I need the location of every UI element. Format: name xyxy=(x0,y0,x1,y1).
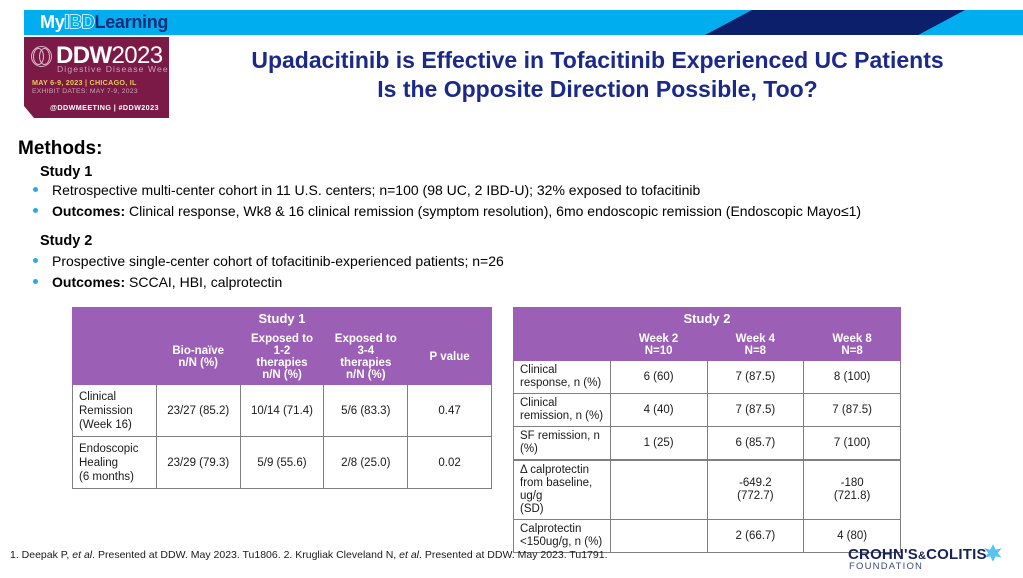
study2-col-week2-l1: Week 2 xyxy=(615,333,703,345)
study1-row-1-label-l1: Endoscopic xyxy=(79,442,152,456)
study1-row-1-bio: 23/29 (79.3) xyxy=(156,437,240,489)
study1-col-p-value: P value xyxy=(408,330,492,385)
table-row: Calprotectin <150ug/g, n (%) 2 (66.7) 4 … xyxy=(514,520,901,553)
table-row: SF remission, n (%) 1 (25) 6 (85.7) 7 (1… xyxy=(514,427,901,461)
methods-bullet-4-text: SCCAI, HBI, calprotectin xyxy=(125,274,282,290)
methods-bullet-2-text: Clinical response, Wk8 & 16 clinical rem… xyxy=(125,203,861,219)
study2-row-3-week4-l2: (772.7) xyxy=(712,490,800,503)
study2-row-3-week8-l2: (721.8) xyxy=(808,490,896,503)
study2-row-3-week4-l1: -649.2 xyxy=(712,477,800,490)
study2-col-week4: Week 4 N=8 xyxy=(707,330,804,361)
ddw-subtitle: Digestive Disease Week® xyxy=(57,64,169,74)
study1-table-body: Clinical Remission (Week 16) 23/27 (85.2… xyxy=(73,385,492,489)
study1-col-blank xyxy=(73,330,157,385)
citation-part-a: 1. Deepak P, xyxy=(10,549,72,561)
methods-bullet-1: Retrospective multi-center cohort in 11 … xyxy=(30,181,980,199)
citation-part-c: . Presented at DDW. May 2023. Tu1791. xyxy=(419,549,608,561)
methods-heading: Methods: xyxy=(18,138,102,160)
table-row: Clinical remission, n (%) 4 (40) 7 (87.5… xyxy=(514,394,901,427)
citation-etal-1: et al xyxy=(72,549,92,561)
study2-row-1-week8: 7 (87.5) xyxy=(804,394,901,427)
study1-row-1-label-l2: Healing xyxy=(79,456,152,470)
top-banner: MyIBDLearning xyxy=(24,10,1023,35)
title-line-1: Upadacitinib is Effective in Tofacitinib… xyxy=(180,46,1015,75)
study1-row-0-exp12: 10/14 (71.4) xyxy=(240,385,324,437)
slide-canvas: MyIBDLearning DDW2023 Digestive Disease … xyxy=(0,0,1023,578)
study2-col-week8: Week 8 N=8 xyxy=(804,330,901,361)
study2-col-week2: Week 2 N=10 xyxy=(610,330,707,361)
ddw-social-handles: @DDWMEETING | #DDW2023 xyxy=(50,103,159,112)
table-row: Clinical Remission (Week 16) 23/27 (85.2… xyxy=(73,385,492,437)
study2-col-week2-l2: N=10 xyxy=(615,345,703,357)
study1-row-0-exp34: 5/6 (83.3) xyxy=(324,385,408,437)
study2-row-3-week8: -180 (721.8) xyxy=(804,460,901,520)
brand-my: My xyxy=(40,12,64,32)
study1-row-0-bio: 23/27 (85.2) xyxy=(156,385,240,437)
study1-table-title: Study 1 xyxy=(73,308,492,330)
study1-header-row: Bio-naïve n/N (%) Exposed to 1-2 therapi… xyxy=(73,330,492,385)
ddw-circles-icon xyxy=(31,46,52,67)
study1-row-1-label-l3: (6 months) xyxy=(79,470,152,484)
study2-row-1-week2: 4 (40) xyxy=(610,394,707,427)
study1-row-0-label-l3: (Week 16) xyxy=(79,418,152,432)
study2-col-week8-l1: Week 8 xyxy=(808,333,896,345)
study1-table-head: Study 1 Bio-naïve n/N (%) Exposed to 1-2… xyxy=(73,308,492,385)
study1-col-exposed-1-2: Exposed to 1-2 therapies n/N (%) xyxy=(240,330,324,385)
study1-col-exposed-1-2-l2: therapies xyxy=(245,357,320,369)
study2-row-4-week4: 2 (66.7) xyxy=(707,520,804,553)
study1-col-bio-naive: Bio-naïve n/N (%) xyxy=(156,330,240,385)
study1-results-table: Study 1 Bio-naïve n/N (%) Exposed to 1-2… xyxy=(72,307,492,489)
study2-row-2-week4: 6 (85.7) xyxy=(707,427,804,461)
citation-etal-2: et al xyxy=(399,549,419,561)
methods-bullet-1-text: Retrospective multi-center cohort in 11 … xyxy=(52,182,700,198)
table-row: Clinical response, n (%) 6 (60) 7 (87.5)… xyxy=(514,361,901,394)
study1-row-1-pvalue: 0.02 xyxy=(408,437,492,489)
study1-row-0-label-l1: Clinical xyxy=(79,390,152,404)
study2-row-3-label-l1: Δ calprotectin from baseline, ug/g xyxy=(520,464,606,503)
table-row: Endoscopic Healing (6 months) 23/29 (79.… xyxy=(73,437,492,489)
study2-row-4-label: Calprotectin <150ug/g, n (%) xyxy=(514,520,611,553)
study2-row-0-week4: 7 (87.5) xyxy=(707,361,804,394)
foundation-subtitle: FOUNDATION xyxy=(849,561,923,572)
study2-header-row: Week 2 N=10 Week 4 N=8 Week 8 N=8 xyxy=(514,330,901,361)
study2-table-head: Study 2 Week 2 N=10 Week 4 N=8 Week 8 N=… xyxy=(514,308,901,361)
study1-row-0-pvalue: 0.47 xyxy=(408,385,492,437)
study2-row-2-label: SF remission, n (%) xyxy=(514,427,611,461)
banner-navy-wedge xyxy=(705,10,965,35)
study2-row-3-week2 xyxy=(610,460,707,520)
foundation-name-colitis: COLITIS xyxy=(926,546,987,563)
study2-title-row: Study 2 xyxy=(514,308,901,330)
study2-col-week8-l2: N=8 xyxy=(808,345,896,357)
study2-row-3-label: Δ calprotectin from baseline, ug/g (SD) xyxy=(514,460,611,520)
study2-row-0-week8: 8 (100) xyxy=(804,361,901,394)
methods-bullet-3-text: Prospective single-center cohort of tofa… xyxy=(52,253,504,269)
methods-bullet-2-label: Outcomes: xyxy=(52,203,125,219)
study2-row-3-label-l2: (SD) xyxy=(520,503,606,516)
study1-row-1-label: Endoscopic Healing (6 months) xyxy=(73,437,157,489)
study1-col-exposed-3-4-l2: therapies xyxy=(328,357,403,369)
page-title: Upadacitinib is Effective in Tofacitinib… xyxy=(180,46,1015,104)
study1-col-exposed-3-4: Exposed to 3-4 therapies n/N (%) xyxy=(324,330,408,385)
study2-col-blank xyxy=(514,330,611,361)
methods-bullet-4: Outcomes: SCCAI, HBI, calprotectin xyxy=(30,273,980,291)
table-row: Δ calprotectin from baseline, ug/g (SD) … xyxy=(514,460,901,520)
study2-heading: Study 2 xyxy=(40,233,92,249)
study2-row-3-week8-l1: -180 xyxy=(808,477,896,490)
citation-part-b: . Presented at DDW. May 2023. Tu1806. 2.… xyxy=(92,549,399,561)
crohns-colitis-foundation-logo: CROHN'S&COLITIS FOUNDATION xyxy=(848,542,1008,574)
title-line-2: Is the Opposite Direction Possible, Too? xyxy=(180,75,1015,104)
study2-row-2-week2: 1 (25) xyxy=(610,427,707,461)
study2-row-0-label: Clinical response, n (%) xyxy=(514,361,611,394)
study1-row-0-label-l2: Remission xyxy=(79,404,152,418)
methods-bullet-3: Prospective single-center cohort of tofa… xyxy=(30,252,980,270)
study1-col-bio-naive-l1: Bio-naïve xyxy=(161,345,236,357)
study1-col-exposed-3-4-l3: n/N (%) xyxy=(328,369,403,381)
myibd-learning-logo: MyIBDLearning xyxy=(40,12,168,33)
study2-results-table: Study 2 Week 2 N=10 Week 4 N=8 Week 8 N=… xyxy=(513,307,901,553)
study1-title-row: Study 1 xyxy=(73,308,492,330)
study1-heading: Study 1 xyxy=(40,164,92,180)
brand-ibd: IBD xyxy=(64,12,94,32)
brand-learning: Learning xyxy=(95,12,169,32)
ddw-exhibit-dates: EXHIBIT DATES: MAY 7-9, 2023 xyxy=(32,88,138,95)
methods-bullet-2: Outcomes: Clinical response, Wk8 & 16 cl… xyxy=(30,202,980,220)
study1-row-1-exp34: 2/8 (25.0) xyxy=(324,437,408,489)
study2-table-body: Clinical response, n (%) 6 (60) 7 (87.5)… xyxy=(514,361,901,553)
study1-col-exposed-1-2-l1: Exposed to 1-2 xyxy=(245,333,320,357)
study1-col-exposed-1-2-l3: n/N (%) xyxy=(245,369,320,381)
study2-row-4-week2 xyxy=(610,520,707,553)
ddw-corner-notch xyxy=(24,106,34,118)
study2-col-week4-l2: N=8 xyxy=(712,345,800,357)
study1-row-1-exp12: 5/9 (55.6) xyxy=(240,437,324,489)
ddw-badge: DDW2023 Digestive Disease Week® MAY 6-9,… xyxy=(24,37,169,118)
study2-row-1-week4: 7 (87.5) xyxy=(707,394,804,427)
study1-col-bio-naive-l2: n/N (%) xyxy=(161,357,236,369)
study2-table-title: Study 2 xyxy=(514,308,901,330)
methods-bullet-4-label: Outcomes: xyxy=(52,274,125,290)
study2-row-1-label: Clinical remission, n (%) xyxy=(514,394,611,427)
footer-citation: 1. Deepak P, et al. Presented at DDW. Ma… xyxy=(10,549,608,561)
study2-col-week4-l1: Week 4 xyxy=(712,333,800,345)
study1-col-exposed-3-4-l1: Exposed to 3-4 xyxy=(328,333,403,357)
study2-row-2-week8: 7 (100) xyxy=(804,427,901,461)
study1-row-0-label: Clinical Remission (Week 16) xyxy=(73,385,157,437)
study2-row-3-week4: -649.2 (772.7) xyxy=(707,460,804,520)
study2-row-0-week2: 6 (60) xyxy=(610,361,707,394)
ddw-dates: MAY 6-9, 2023 | CHICAGO, IL xyxy=(32,78,137,87)
